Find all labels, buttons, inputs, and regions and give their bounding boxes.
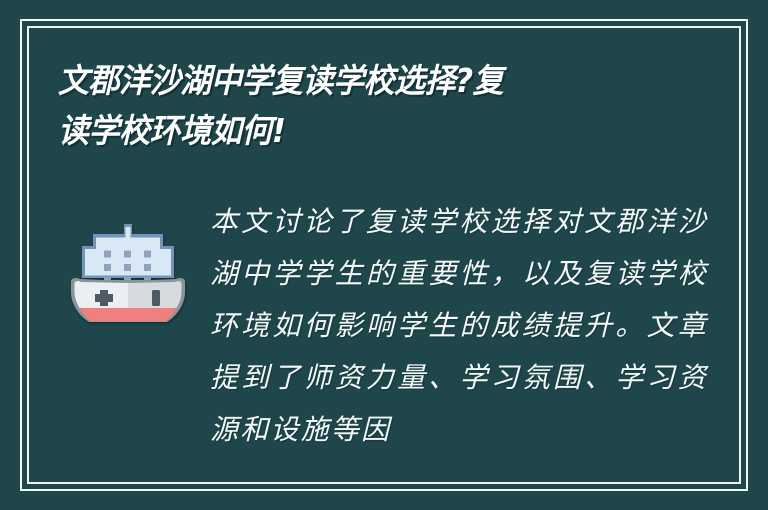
ship-icon: [67, 220, 189, 330]
page-title: 文郡洋沙湖中学复读学校选择?复 读学校环境如何!: [58, 56, 698, 156]
illustration-container: [58, 196, 198, 330]
ship-window: [124, 264, 131, 271]
page-title-line-2: 读学校环境如何!: [58, 106, 660, 156]
ship-hatch-icon: [152, 290, 160, 306]
ship-window: [124, 251, 131, 258]
article-summary-text: 本文讨论了复读学校选择对文郡洋沙湖中学学生的重要性，以及复读学校环境如何影响学生…: [210, 196, 708, 456]
content-row: 本文讨论了复读学校选择对文郡洋沙湖中学学生的重要性，以及复读学校环境如何影响学生…: [58, 196, 708, 456]
ship-window: [104, 251, 111, 258]
ship-waterline-stripe: [79, 308, 177, 322]
ship-window: [104, 264, 111, 271]
article-cover-card: 文郡洋沙湖中学复读学校选择?复 读学校环境如何!: [0, 0, 768, 510]
ship-window: [144, 251, 151, 258]
ship-window: [144, 264, 151, 271]
page-title-line-1: 文郡洋沙湖中学复读学校选择?复: [58, 56, 660, 106]
